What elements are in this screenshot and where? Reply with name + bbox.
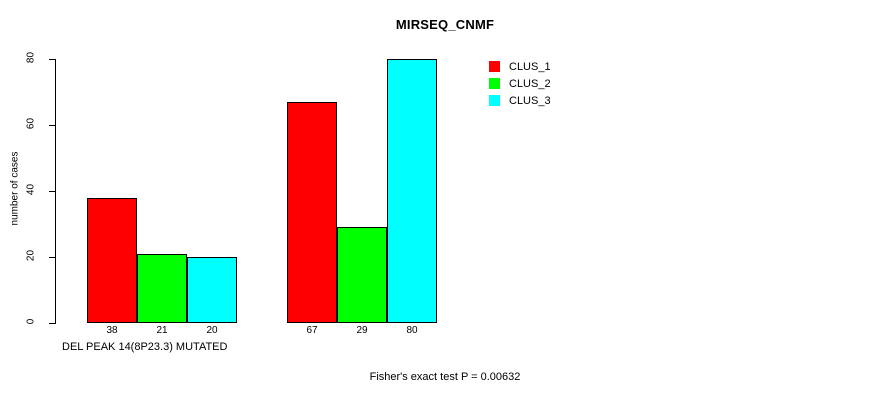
legend-item-clus_3[interactable]: CLUS_3 <box>489 92 551 109</box>
y-axis-tick <box>49 257 55 258</box>
y-axis-tick-label: 40 <box>26 175 37 205</box>
y-axis-tick <box>49 323 55 324</box>
y-axis-tick <box>49 125 55 126</box>
bar-clus_3[interactable] <box>387 59 437 323</box>
legend-item-label: CLUS_1 <box>509 61 551 73</box>
bar-value-label: 38 <box>87 325 137 336</box>
bar-clus_3[interactable] <box>187 257 237 323</box>
legend-item-label: CLUS_3 <box>509 95 551 107</box>
y-axis-tick-label: 60 <box>26 109 37 139</box>
bar-value-label: 29 <box>337 325 387 336</box>
legend-color-swatch <box>489 61 500 72</box>
y-axis-line <box>55 59 56 324</box>
bar-clus_1[interactable] <box>87 198 137 323</box>
y-axis-tick-label: 20 <box>26 241 37 271</box>
bar-value-label: 80 <box>387 325 437 336</box>
bar-value-label: 20 <box>187 325 237 336</box>
legend: CLUS_1CLUS_2CLUS_3 <box>489 58 551 109</box>
bar-value-label: 21 <box>137 325 187 336</box>
legend-item-label: CLUS_2 <box>509 78 551 90</box>
y-axis-label: number of cases <box>10 134 21 244</box>
y-axis-tick <box>49 59 55 60</box>
page-title: MIRSEQ_CNMF <box>0 17 890 32</box>
y-axis-tick-label: 80 <box>26 43 37 73</box>
statistical-annotation: Fisher's exact test P = 0.00632 <box>0 371 890 383</box>
bar-clus_2[interactable] <box>337 227 387 323</box>
x-axis-group-label: DEL PEAK 14(8P23.3) MUTATED <box>62 341 227 353</box>
bar-value-label: 67 <box>287 325 337 336</box>
legend-item-clus_2[interactable]: CLUS_2 <box>489 75 551 92</box>
legend-color-swatch <box>489 78 500 89</box>
legend-color-swatch <box>489 95 500 106</box>
y-axis-tick <box>49 191 55 192</box>
bar-clus_2[interactable] <box>137 254 187 323</box>
bar-clus_1[interactable] <box>287 102 337 323</box>
legend-item-clus_1[interactable]: CLUS_1 <box>489 58 551 75</box>
chart-canvas: MIRSEQ_CNMF 020406080 number of cases 38… <box>0 0 890 400</box>
y-axis-tick-label: 0 <box>26 307 37 337</box>
